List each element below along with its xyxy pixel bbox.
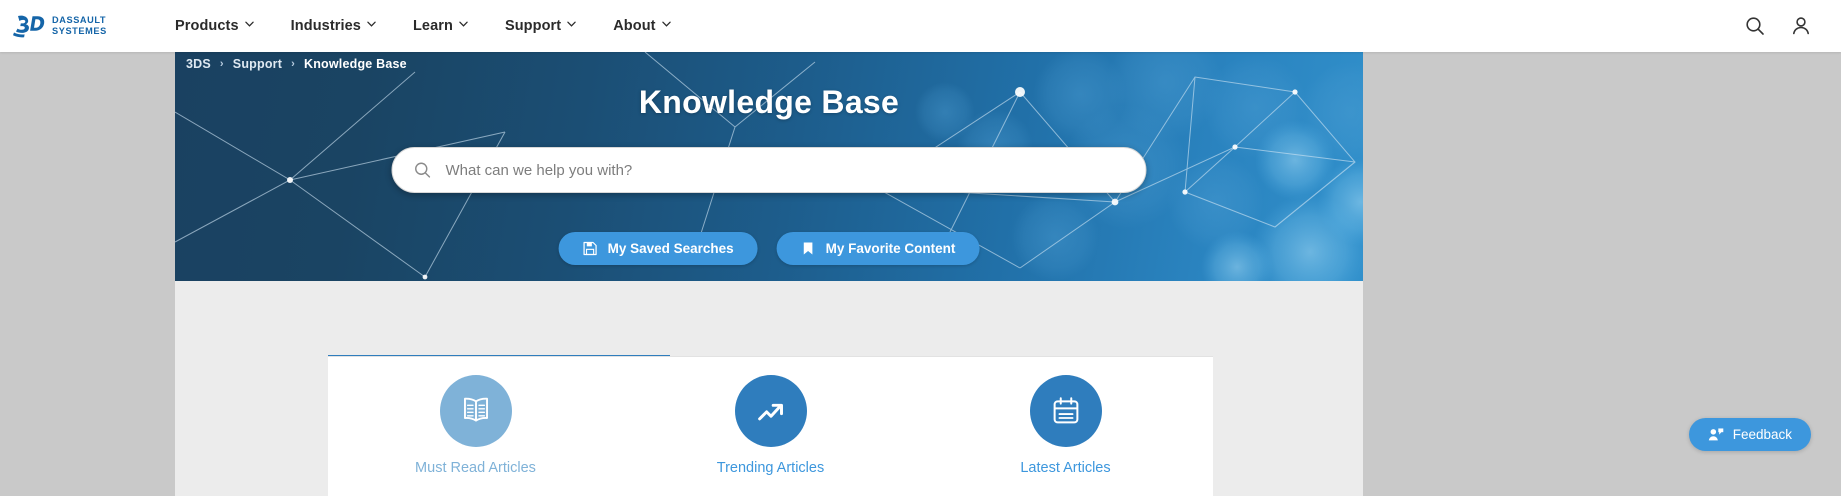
nav-item-label: Products xyxy=(175,18,239,34)
person-feedback-icon xyxy=(1708,427,1724,442)
feedback-label: Feedback xyxy=(1733,427,1792,442)
nav-item-label: Learn xyxy=(413,18,453,34)
nav-item-label: Industries xyxy=(291,18,361,34)
nav-item-label: Support xyxy=(505,18,561,34)
chevron-down-icon xyxy=(459,21,468,30)
breadcrumb-separator: › xyxy=(291,58,295,70)
top-navigation-bar: DASSAULT SYSTEMES Products Industries Le… xyxy=(0,0,1841,52)
chevron-down-icon xyxy=(367,21,376,30)
card-label: Latest Articles xyxy=(1020,460,1110,476)
my-saved-searches-button[interactable]: My Saved Searches xyxy=(559,232,758,265)
chevron-down-icon xyxy=(567,21,576,30)
chevron-down-icon xyxy=(662,21,671,30)
hero-banner: 3DS › Support › Knowledge Base Knowledge… xyxy=(175,52,1363,281)
card-latest-articles[interactable]: Latest Articles xyxy=(918,357,1213,496)
hero-search xyxy=(392,147,1147,193)
account-icon[interactable] xyxy=(1789,14,1813,38)
breadcrumb-item-support[interactable]: Support xyxy=(233,57,282,71)
breadcrumb: 3DS › Support › Knowledge Base xyxy=(186,57,407,71)
dassault-systemes-logo[interactable]: DASSAULT SYSTEMES xyxy=(12,10,122,42)
bookmark-icon xyxy=(801,241,816,256)
nav-item-about[interactable]: About xyxy=(596,10,687,42)
main-nav: Products Industries Learn Support xyxy=(158,10,688,42)
search-icon xyxy=(413,160,433,180)
feedback-button[interactable]: Feedback xyxy=(1689,418,1811,451)
content-strip: Must Read Articles Trending Articles xyxy=(175,281,1363,496)
button-label: My Favorite Content xyxy=(826,241,956,256)
button-label: My Saved Searches xyxy=(608,241,734,256)
nav-item-products[interactable]: Products xyxy=(158,10,271,42)
search-input[interactable] xyxy=(446,162,1126,179)
card-trending-articles[interactable]: Trending Articles xyxy=(623,357,918,496)
my-favorite-content-button[interactable]: My Favorite Content xyxy=(777,232,980,265)
hero-action-buttons: My Saved Searches My Favorite Content xyxy=(559,232,980,265)
top-bar-actions xyxy=(1743,14,1813,38)
card-must-read-articles[interactable]: Must Read Articles xyxy=(328,357,623,496)
svg-text:SYSTEMES: SYSTEMES xyxy=(52,26,107,36)
nav-item-label: About xyxy=(613,18,655,34)
nav-item-learn[interactable]: Learn xyxy=(396,10,485,42)
svg-text:DASSAULT: DASSAULT xyxy=(52,15,106,25)
calendar-icon xyxy=(1030,375,1102,447)
search-icon[interactable] xyxy=(1743,14,1767,38)
nav-item-support[interactable]: Support xyxy=(488,10,593,42)
search-box[interactable] xyxy=(392,147,1147,193)
chevron-down-icon xyxy=(245,21,254,30)
breadcrumb-item-3ds[interactable]: 3DS xyxy=(186,57,211,71)
nav-item-industries[interactable]: Industries xyxy=(274,10,393,42)
card-label: Must Read Articles xyxy=(415,460,536,476)
open-book-icon xyxy=(440,375,512,447)
save-icon xyxy=(583,241,598,256)
trending-up-icon xyxy=(735,375,807,447)
breadcrumb-separator: › xyxy=(220,58,224,70)
page-title: Knowledge Base xyxy=(175,84,1363,121)
card-label: Trending Articles xyxy=(717,460,824,476)
breadcrumb-item-knowledge-base: Knowledge Base xyxy=(304,57,407,71)
article-category-cards: Must Read Articles Trending Articles xyxy=(328,356,1213,496)
knowledge-base-page: DASSAULT SYSTEMES Products Industries Le… xyxy=(0,0,1841,496)
